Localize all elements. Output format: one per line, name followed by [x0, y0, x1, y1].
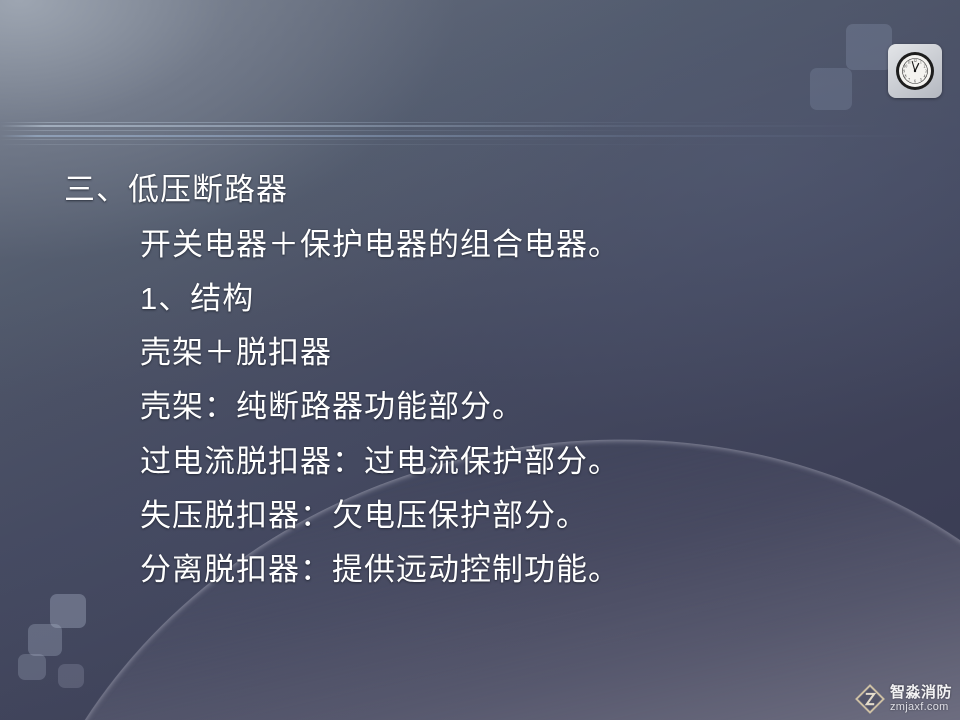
watermark-url: zmjaxf.com [890, 702, 952, 713]
zhimiao-logo-icon [855, 684, 885, 714]
text-line-7: 失压脱扣器：欠电压保护部分。 [140, 500, 588, 531]
text-line-2: 开关电器＋保护电器的组合电器。 [140, 229, 620, 260]
presentation-slide: 12 1 2 3 4 5 6 7 8 9 10 11 三、低压 [0, 0, 960, 720]
text-line-8: 分离脱扣器：提供远动控制功能。 [140, 554, 620, 585]
watermark-brand: 智淼消防 [890, 685, 952, 700]
watermark-text: 智淼消防 zmjaxf.com [890, 685, 952, 713]
text-line-6: 过电流脱扣器：过电流保护部分。 [140, 446, 620, 477]
watermark: 智淼消防 zmjaxf.com [855, 684, 952, 714]
text-line-3: 1、结构 [140, 283, 254, 314]
slide-text-content: 三、低压断路器 开关电器＋保护电器的组合电器。 1、结构 壳架＋脱扣器 壳架：纯… [0, 0, 960, 720]
text-line-5: 壳架：纯断路器功能部分。 [140, 391, 524, 422]
text-line-4: 壳架＋脱扣器 [140, 337, 332, 368]
text-line-1: 三、低压断路器 [64, 174, 288, 205]
